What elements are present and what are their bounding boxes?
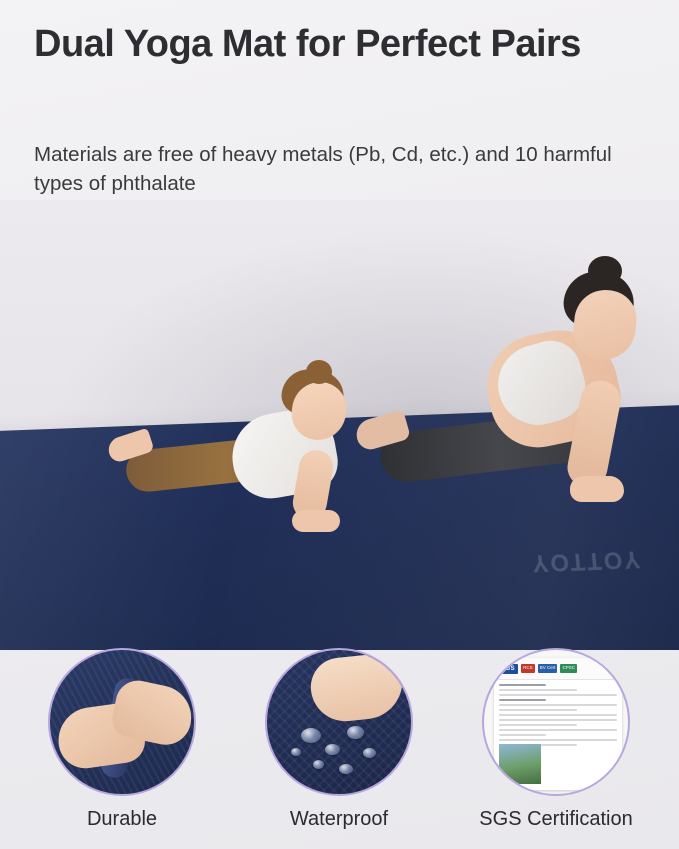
feature-sgs: SGS RCS BV Cert CPSC [456,648,656,831]
feature-durable-image [48,648,196,796]
text-line [499,709,577,711]
cert-mark-cpsc: CPSC [560,664,577,673]
feature-row: Durable Waterproof SGS RCS [0,648,679,849]
child-figure [120,376,390,566]
certificate-text-lines [499,684,617,749]
text-line [499,729,617,731]
feature-waterproof-image [265,648,413,796]
adult-hand [570,476,624,502]
adult-hair-bun [588,256,622,286]
water-droplet [363,748,376,758]
text-line [499,739,617,741]
certificate-header: SGS RCS BV Cert CPSC [494,658,622,680]
water-droplet [325,744,340,755]
child-hand [292,510,340,532]
text-line [499,704,617,706]
text-line [499,714,617,716]
water-droplet [339,764,353,774]
mat-brand-logo: YOTTOY [529,545,641,578]
child-hair-bun [306,360,332,384]
water-droplet [347,726,364,739]
text-line [499,699,546,701]
product-photo-scene: YOTTOY [0,200,679,650]
product-infographic: Dual Yoga Mat for Perfect Pairs Material… [0,0,679,849]
water-droplet [313,760,324,769]
feature-sgs-image: SGS RCS BV Cert CPSC [482,648,630,796]
feature-sgs-label: SGS Certification [456,808,656,831]
water-droplet [291,748,301,756]
feature-waterproof: Waterproof [239,648,439,831]
feature-waterproof-label: Waterproof [239,808,439,831]
page-title: Dual Yoga Mat for Perfect Pairs [34,22,634,66]
text-line [499,719,617,721]
text-line [499,724,577,726]
text-line [499,734,546,736]
text-line [499,694,617,696]
certificate-document: SGS RCS BV Cert CPSC [494,658,622,790]
feature-durable-label: Durable [22,808,222,831]
page-subtitle: Materials are free of heavy metals (Pb, … [34,140,644,198]
feature-durable: Durable [22,648,222,831]
text-line [499,689,577,691]
adult-figure [378,248,648,548]
sgs-logo: SGS [498,664,518,674]
certificate-photo [499,744,541,784]
cert-mark-bv: BV Cert [538,664,558,673]
water-droplet [301,728,321,743]
text-line [499,684,546,686]
cert-mark-rcs: RCS [521,664,535,673]
